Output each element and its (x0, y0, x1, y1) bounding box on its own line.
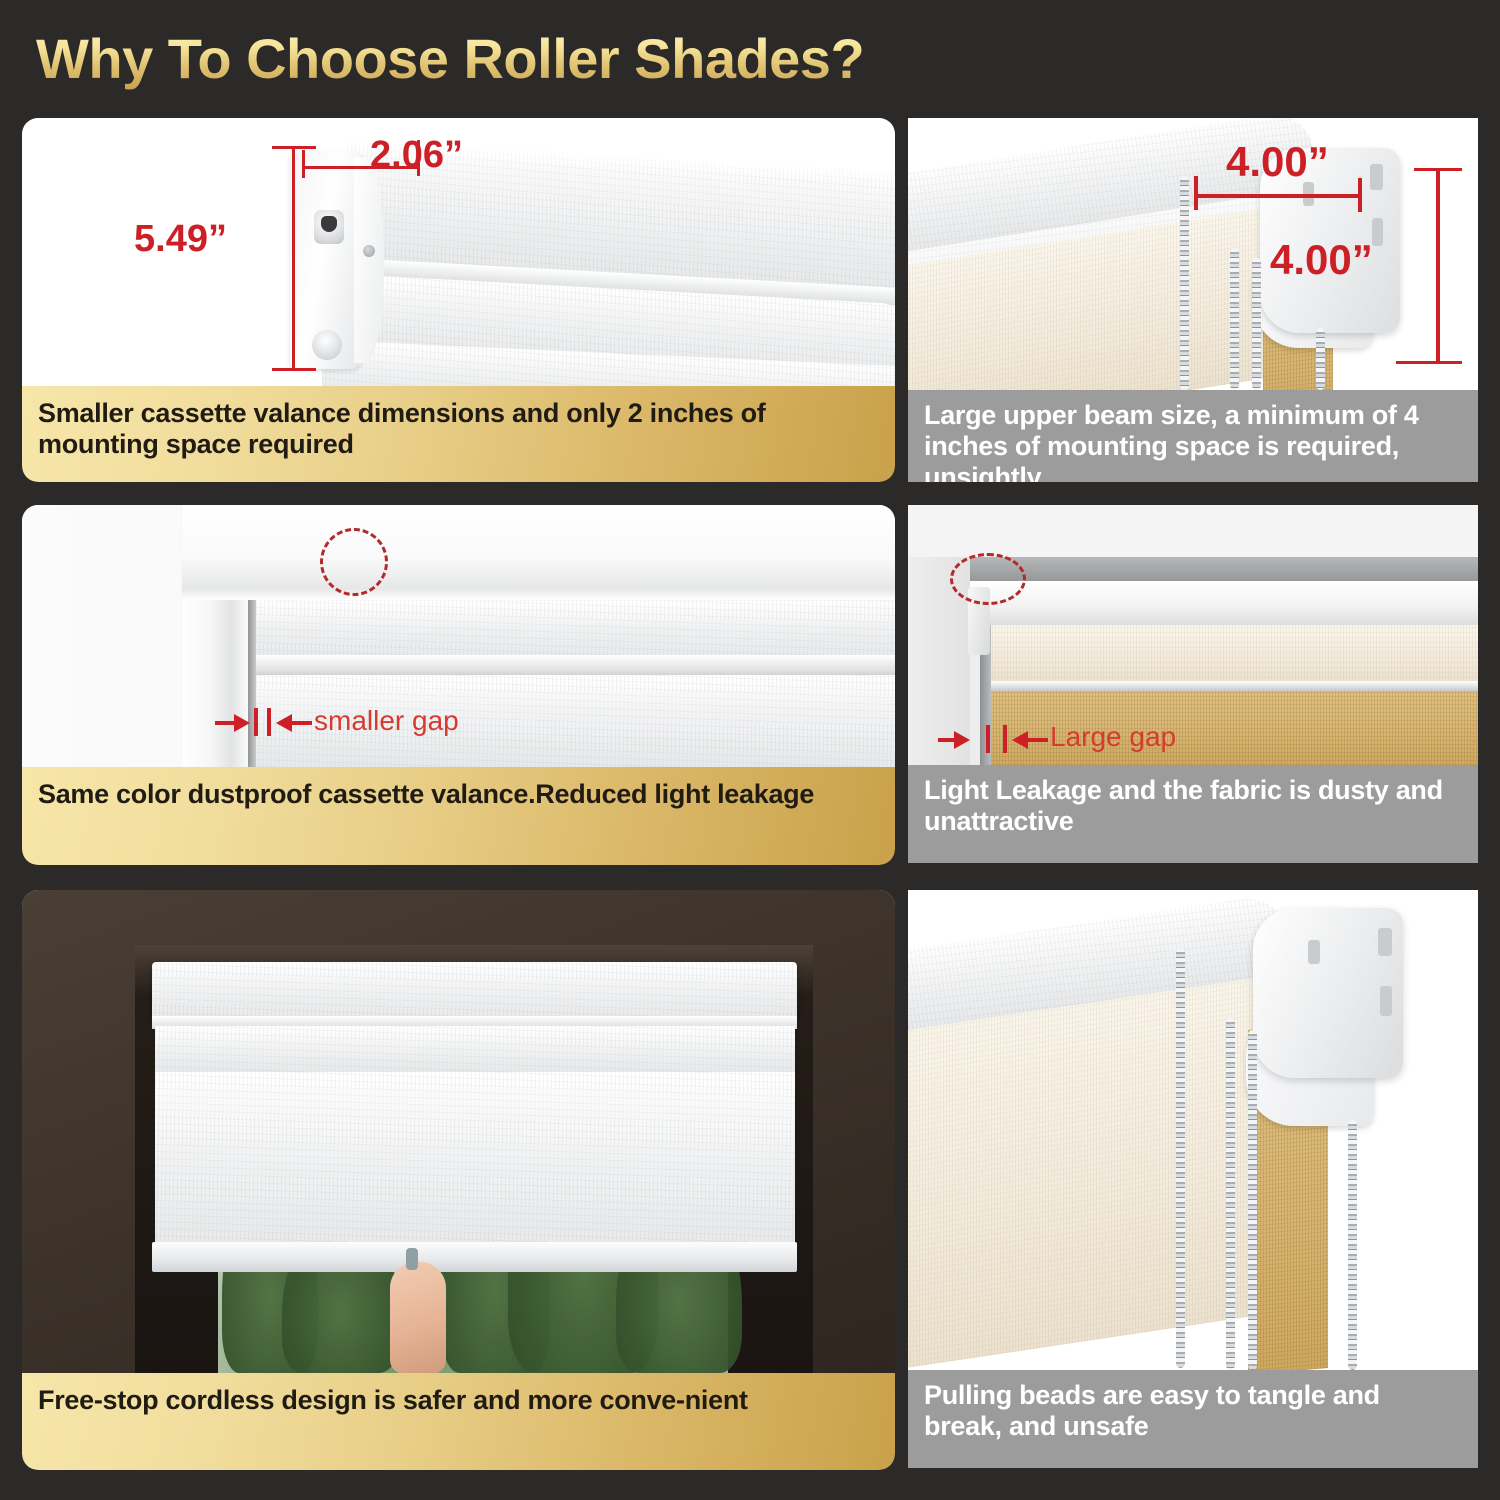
gap-label-large: Large gap (1050, 721, 1176, 753)
bead-chain-2 (1226, 1018, 1235, 1370)
beam-width-tick-left (1194, 176, 1198, 210)
gap-tick-left (254, 708, 258, 736)
width-dimension-tick-left (302, 150, 305, 178)
upper-beam (966, 581, 1478, 629)
gap-label-smaller: smaller gap (314, 705, 459, 737)
bracket-clip (314, 210, 344, 244)
bracket-slot-2 (1372, 218, 1383, 246)
gap-tick-left (986, 725, 990, 753)
caption-bad-3: Pulling beads are easy to tangle and bre… (908, 1370, 1478, 1468)
gap-tick-right (267, 708, 271, 736)
valance-rail (253, 655, 895, 677)
product-image-dustproof-valance: smaller gap (22, 505, 895, 767)
bead-chain-3 (1248, 1030, 1257, 1370)
gap-shadow (248, 600, 256, 767)
comparison-panel-good-2: smaller gap Same color dustproof cassett… (22, 505, 895, 865)
beam-width-line (1194, 194, 1362, 198)
product-image-cassette-valance: 2.06” 5.49” (22, 118, 895, 386)
bead-chain-2 (1230, 248, 1239, 390)
bracket-slot-1 (1378, 928, 1392, 956)
width-dimension-label: 2.06” (370, 134, 463, 177)
bead-chain-1 (1180, 176, 1189, 390)
height-dimension-tick-top (272, 146, 316, 149)
comparison-panel-bad-3: Pulling beads are easy to tangle and bre… (908, 890, 1478, 1468)
beam-height-tick-top (1414, 168, 1462, 171)
caption-bad-2: Light Leakage and the fabric is dusty an… (908, 765, 1478, 863)
cassette-valance (152, 962, 797, 1020)
shade-roll (155, 1026, 795, 1074)
bead-chain-4 (1316, 328, 1325, 390)
highlight-circle (320, 528, 388, 596)
beam-height-label: 4.00” (1270, 236, 1373, 284)
cream-fabric (986, 625, 1478, 683)
caption-good-2: Same color dustproof cassette valance.Re… (22, 767, 895, 865)
caption-good-3: Free-stop cordless design is safer and m… (22, 1373, 895, 1470)
shade-fabric (155, 1072, 795, 1250)
caption-bad-1: Large upper beam size, a minimum of 4 in… (908, 390, 1478, 482)
height-dimension-tick-bottom (272, 368, 316, 371)
bracket-slot-1 (1370, 164, 1383, 190)
bead-chain-1 (1176, 948, 1185, 1368)
gap-arrow-stem-right (290, 721, 312, 725)
bottom-rail (152, 1242, 797, 1272)
beam-height-tick-bottom (1396, 361, 1462, 364)
product-image-large-beam: 4.00” 4.00” (908, 118, 1478, 390)
height-dimension-label: 5.49” (134, 218, 227, 261)
product-image-light-leakage: Large gap (908, 505, 1478, 765)
highlight-circle (950, 553, 1026, 605)
beam-width-tick-right (1358, 178, 1362, 212)
gap-arrow-right-icon (234, 714, 250, 732)
hand-pulling-shade (390, 1262, 446, 1373)
comparison-panel-good-1: 2.06” 5.49” Smaller cassette valance dim… (22, 118, 895, 482)
height-dimension-line (292, 146, 295, 371)
comparison-panel-bad-2: Large gap Light Leakage and the fabric i… (908, 505, 1478, 863)
product-image-pulling-beads (908, 890, 1478, 1370)
bracket-slot-2 (1380, 986, 1392, 1016)
window-frame-header (182, 505, 895, 600)
bead-chain-4 (1348, 1120, 1357, 1370)
tension-knob (312, 330, 342, 360)
valance-face (256, 601, 895, 657)
page-title: Why To Choose Roller Shades? (36, 26, 864, 91)
fabric-edge (986, 681, 1478, 691)
gap-arrow-right-icon (954, 731, 970, 749)
comparison-panel-good-3: Free-stop cordless design is safer and m… (22, 890, 895, 1470)
comparison-panel-bad-1: 4.00” 4.00” Large upper beam size, a min… (908, 118, 1478, 482)
product-image-cordless-window (22, 890, 895, 1373)
bead-chain-3 (1252, 258, 1261, 390)
beam-width-label: 4.00” (1226, 138, 1329, 186)
gap-arrow-stem-right (1026, 738, 1048, 742)
screw-icon (363, 245, 375, 257)
bracket-slot-3 (1308, 940, 1320, 964)
caption-good-1: Smaller cassette valance dimensions and … (22, 386, 895, 482)
beam-height-line (1436, 168, 1440, 364)
gap-tick-right (1003, 725, 1007, 753)
